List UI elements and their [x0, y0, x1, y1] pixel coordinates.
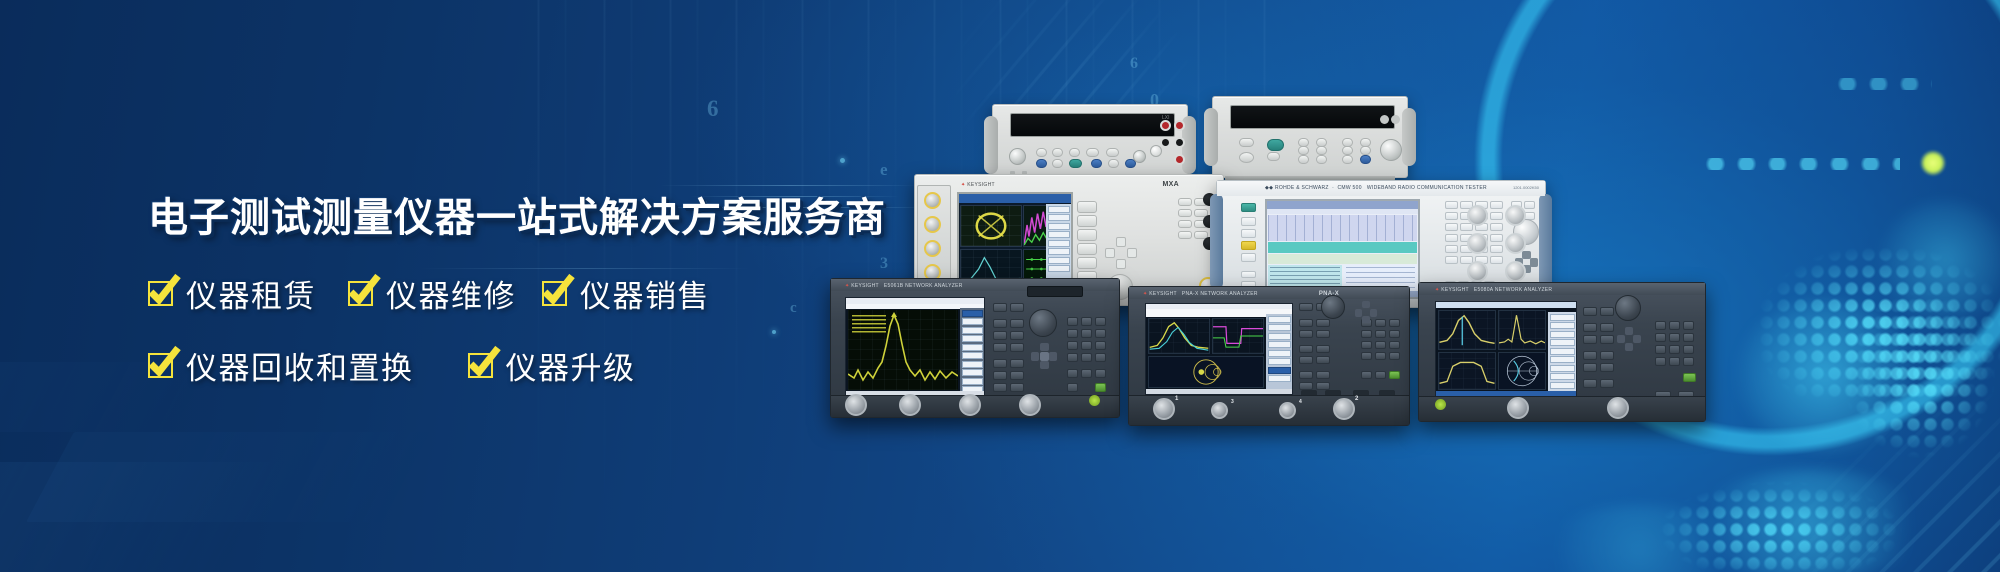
circuit-glyph-decor: e [880, 160, 888, 180]
feature-row-1: 仪器租赁 仪器维修 仪器销售 [148, 271, 908, 316]
circuit-trace-decor [660, 185, 920, 186]
instrument-network-analyzer-center: ✦ KEYSIGHT PNA-X NETWORK ANALYZER PNA-X [1128, 286, 1410, 426]
checkbox-checked-icon [468, 353, 493, 378]
hero-banner: 6 e 0 c 0 3 o 0 0 6 6 c o c ✦ KEYSIGHT L… [0, 0, 2000, 572]
circuit-glyph-decor: 6 [1130, 55, 1138, 73]
banner-copy: 电子测试测量仪器一站式解决方案服务商 仪器租赁 仪器维修 仪器销售 [148, 198, 908, 388]
feature-item-instrument-repair[interactable]: 仪器维修 [348, 271, 516, 316]
checkbox-checked-icon [148, 353, 173, 378]
instrument-cluster: ✦ KEYSIGHT LXI [1020, 96, 2000, 516]
instrument-benchtop-digital-multimeter-right: ✦ KEYSIGHT [1212, 96, 1408, 178]
feature-item-instrument-recycle-exchange[interactable]: 仪器回收和置换 [148, 343, 414, 388]
feature-label: 仪器升级 [506, 343, 636, 388]
feature-item-instrument-rental[interactable]: 仪器租赁 [148, 271, 316, 316]
feature-label: 仪器租赁 [186, 271, 316, 316]
circuit-glyph-decor: 6 [707, 96, 719, 122]
brand-label: ✦ KEYSIGHT PNA-X NETWORK ANALYZER [1143, 291, 1258, 297]
brand-label: ◆◆ ROHDE & SCHWARZ · CMW 500 WIDEBAND RA… [1265, 185, 1487, 191]
feature-item-instrument-upgrade[interactable]: 仪器升级 [468, 343, 636, 388]
globe-dot-line [1832, 78, 1932, 90]
brand-label: ✦ KEYSIGHT E5080A NETWORK ANALYZER [1435, 287, 1552, 293]
feature-item-instrument-sales[interactable]: 仪器销售 [542, 271, 710, 316]
feature-label: 仪器回收和置换 [186, 343, 414, 388]
feature-label: 仪器销售 [580, 271, 710, 316]
checkbox-checked-icon [542, 281, 567, 306]
feature-label: 仪器维修 [386, 271, 516, 316]
page-title: 电子测试测量仪器一站式解决方案服务商 [148, 198, 908, 238]
checkbox-checked-icon [348, 281, 373, 306]
circuit-node-decor [840, 158, 845, 163]
checkbox-checked-icon [148, 281, 173, 306]
instrument-network-analyzer-right: ✦ KEYSIGHT E5080A NETWORK ANALYZER [1418, 282, 1706, 422]
feature-row-2: 仪器回收和置换 仪器升级 [148, 343, 908, 388]
